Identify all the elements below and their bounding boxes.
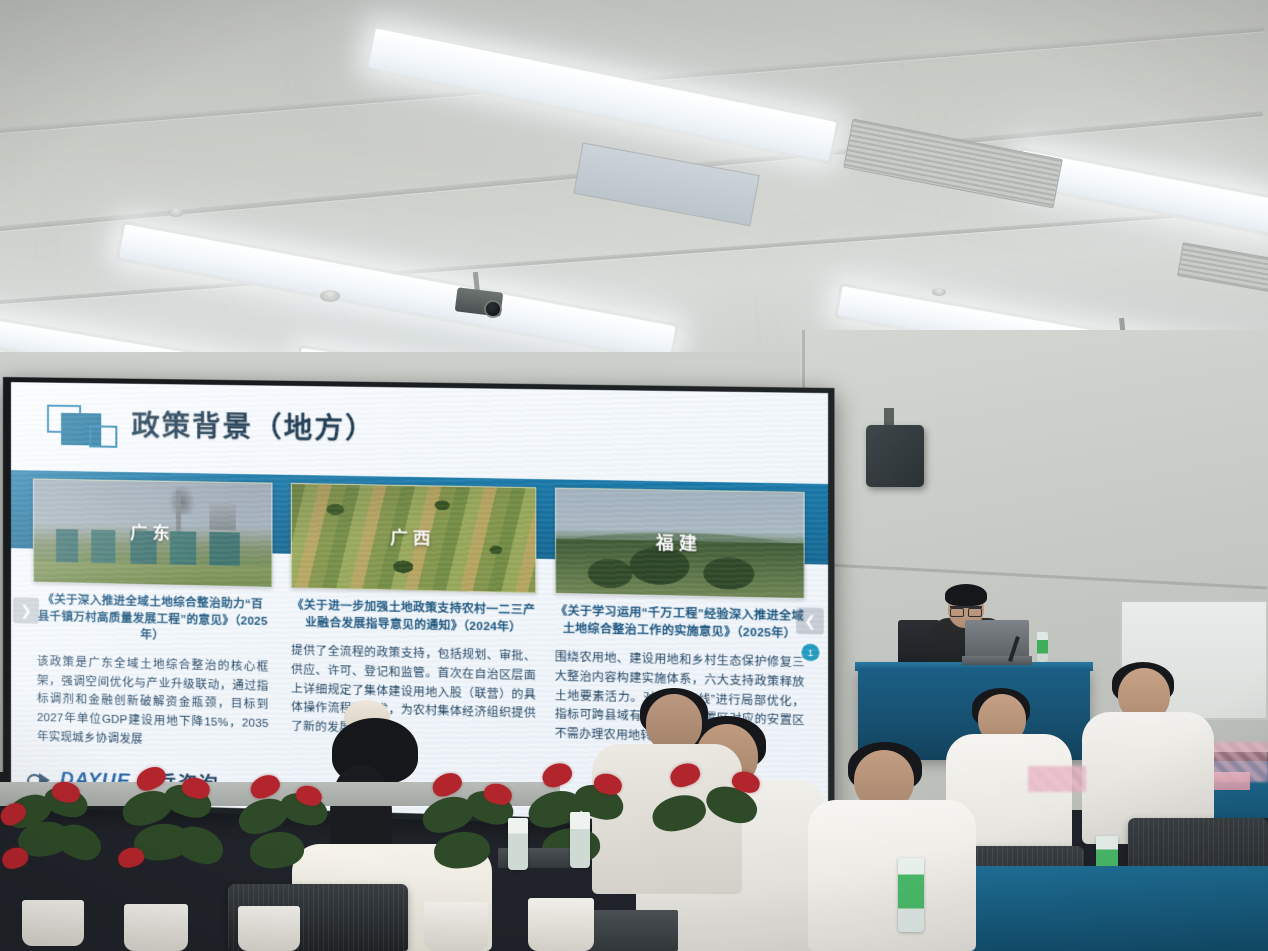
plant-pot: [424, 902, 488, 951]
smoke-detector-icon: [168, 208, 184, 217]
policy-body: 该政策是广东全域土地综合整治的核心框架，强调空间优化与产业升级联动，通过指标调剂…: [33, 653, 273, 753]
anthurium-plant-2: [108, 752, 238, 922]
presenter-laptop-base: [962, 656, 1032, 665]
smoke-detector-icon-3: [932, 288, 946, 296]
guangdong-rural-photo: 广东: [33, 479, 273, 588]
presenter-glasses: [950, 606, 982, 612]
anthurium-plant-6: [636, 750, 786, 920]
photo-label: 福建: [556, 526, 804, 556]
photo-label: 广东: [34, 516, 272, 546]
page-badge[interactable]: 1: [801, 644, 819, 662]
policy-body: 提供了全流程的政策支持，包括规划、审批、供应、许可、登记和监管。首次在自治区层面…: [291, 642, 536, 743]
person-shirt: [808, 800, 976, 951]
anthurium-plant-3: [226, 756, 356, 926]
policy-caption: 《关于深入推进全域土地综合整治助力“百县千镇万村高质量发展工程”的意见》（202…: [33, 592, 273, 648]
wall-speaker: [866, 425, 924, 487]
slide-title: 政策背景（地方）: [131, 404, 375, 448]
projector-lens-icon: [486, 302, 500, 316]
guangxi-farmland-photo: 广西: [291, 483, 536, 593]
blurred-region: [1028, 766, 1086, 792]
plant-pot: [528, 898, 594, 951]
crop-field: [34, 561, 272, 587]
edge-next-chevron-icon[interactable]: ❮: [796, 607, 824, 634]
photo-label: 广西: [292, 521, 535, 551]
smoke-plume: [169, 484, 195, 515]
plant-pot: [238, 906, 300, 951]
policy-caption: 《关于学习运用“千万工程”经验深入推进全域土地综合整治工作的实施意见》（2025…: [555, 603, 805, 643]
water-bottle: [898, 858, 924, 932]
water-bottle: [508, 818, 528, 870]
edge-prev-chevron-icon[interactable]: ❯: [13, 597, 39, 624]
policy-caption: 《关于进一步加强土地政策支持农村一二三产业融合发展指导意见的通知》（2024年）: [291, 597, 536, 636]
anthurium-plant-1: [0, 760, 120, 920]
slide-header: 政策背景（地方）: [11, 396, 828, 465]
water-bottle: [570, 812, 590, 868]
water-bottle: [1037, 632, 1048, 662]
plant-pot: [124, 904, 188, 951]
conference-room-scene: 政策背景（地方） 广东 《关于深入推进全域土地综合整治助力“百县: [0, 0, 1268, 951]
smoke-detector-icon-2: [320, 290, 340, 302]
decor-square-outline2-icon: [89, 425, 117, 448]
plant-pot: [22, 900, 84, 946]
presenter-laptop-lid: [965, 620, 1029, 658]
fujian-forest-photo: 福建: [555, 488, 805, 600]
presenter-hair: [945, 584, 987, 606]
